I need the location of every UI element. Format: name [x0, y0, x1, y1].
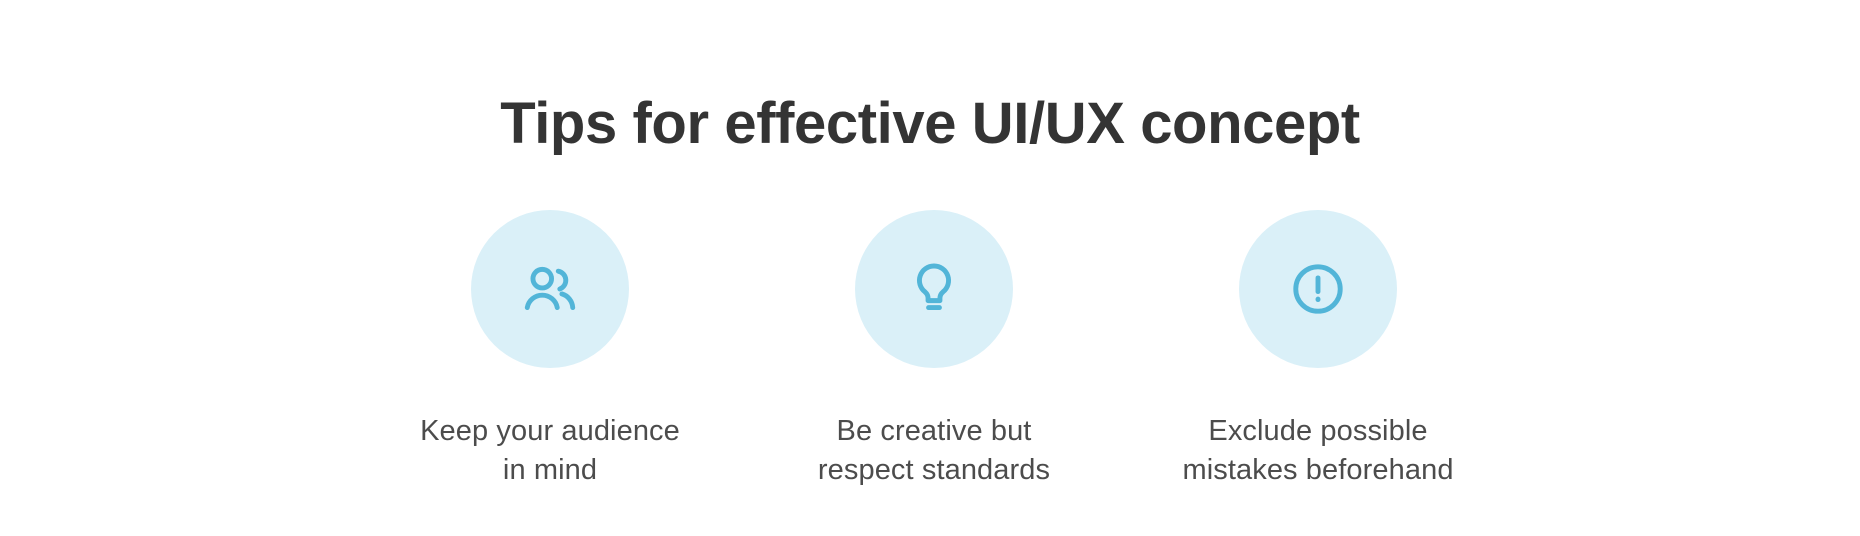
tip-caption: Exclude possible mistakes beforehand	[1182, 412, 1453, 491]
icon-bubble	[471, 210, 629, 368]
tip-caption: Be creative but respect standards	[818, 412, 1050, 491]
tip-card-mistakes: Exclude possible mistakes beforehand	[1166, 210, 1470, 491]
tips-row: Keep your audience in mind Be creative b…	[398, 210, 1466, 491]
slide-canvas: Tips for effective UI/UX concept Keep yo…	[0, 0, 1860, 536]
tip-card-audience: Keep your audience in mind	[398, 210, 702, 491]
icon-bubble	[1239, 210, 1397, 368]
page-title: Tips for effective UI/UX concept	[0, 91, 1860, 158]
tip-card-creative: Be creative but respect standards	[782, 210, 1086, 491]
alert-circle-icon	[1287, 258, 1349, 320]
lightbulb-icon	[903, 258, 965, 320]
icon-bubble	[855, 210, 1013, 368]
users-icon	[519, 258, 581, 320]
tip-caption: Keep your audience in mind	[420, 412, 680, 491]
